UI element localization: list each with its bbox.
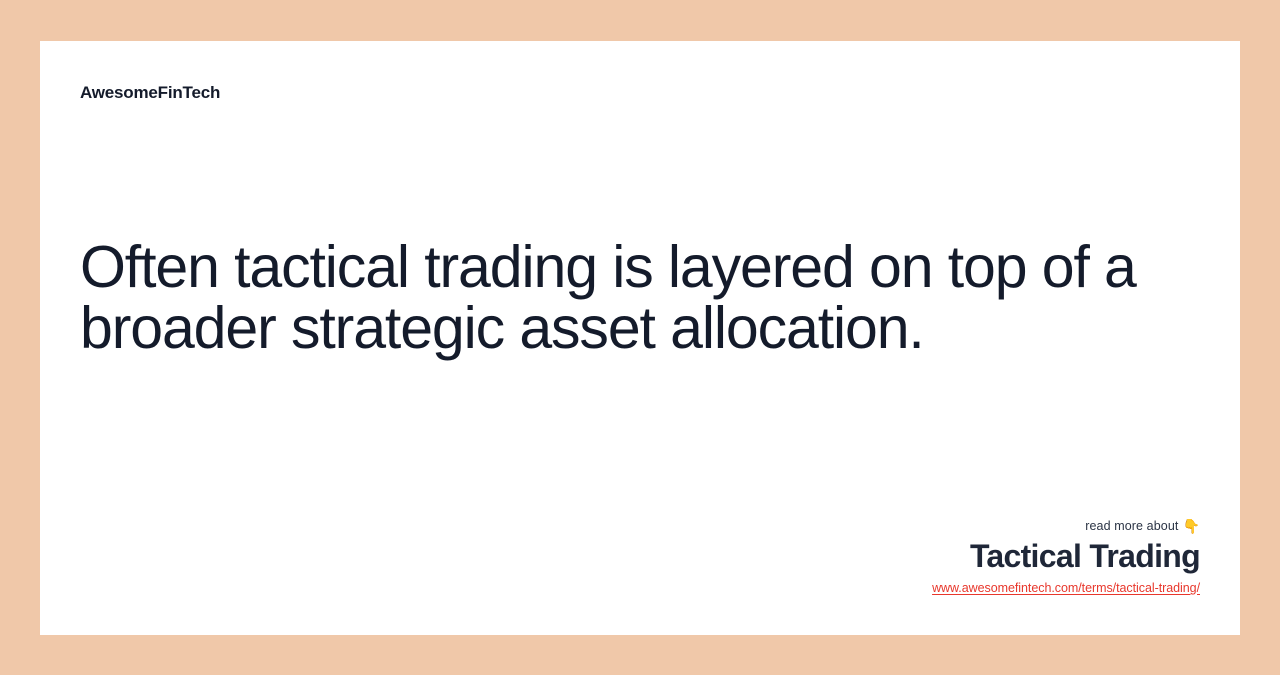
brand-logo: AwesomeFinTech bbox=[80, 84, 220, 101]
read-more-label: read more about bbox=[1085, 519, 1178, 533]
quote-card: AwesomeFinTech Often tactical trading is… bbox=[40, 41, 1240, 635]
page-canvas: AwesomeFinTech Often tactical trading is… bbox=[0, 0, 1280, 675]
footer-attribution: read more about👇 Tactical Trading www.aw… bbox=[932, 519, 1200, 596]
term-url-link[interactable]: www.awesomefintech.com/terms/tactical-tr… bbox=[932, 582, 1200, 595]
read-more-line: read more about👇 bbox=[932, 519, 1200, 533]
quote-text: Often tactical trading is layered on top… bbox=[80, 237, 1140, 359]
point-down-icon: 👇 bbox=[1182, 518, 1200, 534]
term-title: Tactical Trading bbox=[932, 540, 1200, 574]
